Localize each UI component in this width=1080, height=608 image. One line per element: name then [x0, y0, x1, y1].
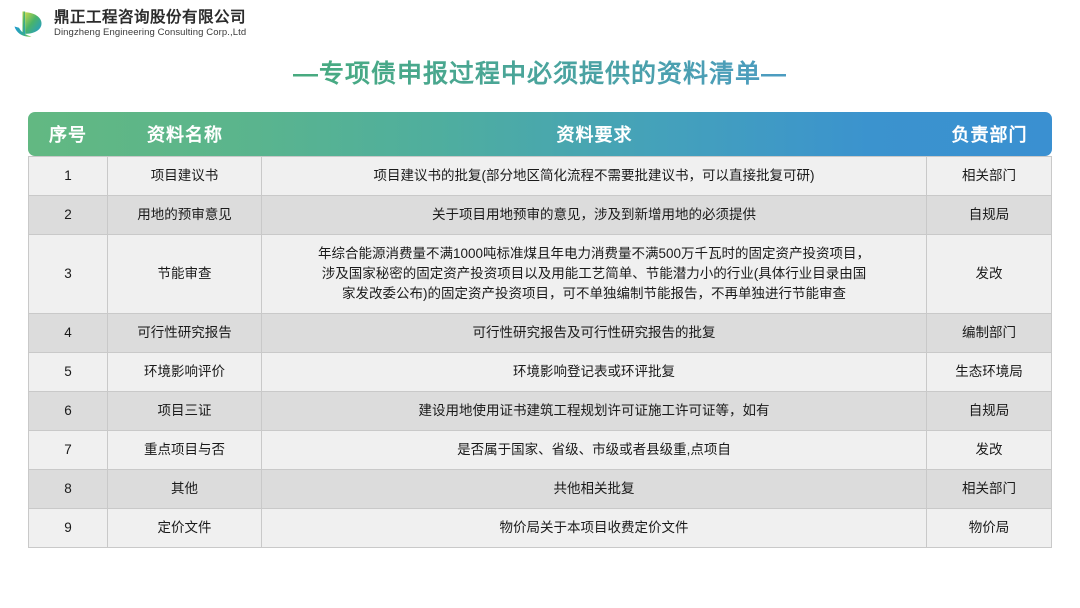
dingzheng-d-logo-icon: [12, 7, 46, 41]
cell-no: 8: [28, 470, 108, 509]
cell-no: 9: [28, 509, 108, 548]
column-header-dept: 负责部门: [927, 112, 1052, 156]
table-row: 7重点项目与否是否属于国家、省级、市级或者县级重,点项自发改: [28, 431, 1052, 470]
cell-requirement: 环境影响登记表或环评批复: [262, 353, 927, 392]
requirement-line: 物价局关于本项目收费定价文件: [270, 518, 918, 538]
cell-dept: 发改: [927, 431, 1052, 470]
cell-dept: 自规局: [927, 392, 1052, 431]
company-name-en: Dingzheng Engineering Consulting Corp.,L…: [54, 27, 246, 39]
requirement-line: 关于项目用地预审的意见，涉及到新增用地的必须提供: [270, 205, 918, 225]
cell-name: 节能审查: [108, 235, 262, 314]
cell-requirement: 共他相关批复: [262, 470, 927, 509]
table-row: 5环境影响评价环境影响登记表或环评批复生态环境局: [28, 353, 1052, 392]
cell-requirement: 关于项目用地预审的意见，涉及到新增用地的必须提供: [262, 196, 927, 235]
cell-name: 重点项目与否: [108, 431, 262, 470]
table-row: 6项目三证建设用地使用证书建筑工程规划许可证施工许可证等，如有自规局: [28, 392, 1052, 431]
table-row: 8其他共他相关批复相关部门: [28, 470, 1052, 509]
cell-name: 环境影响评价: [108, 353, 262, 392]
brand-text-block: 鼎正工程咨询股份有限公司 Dingzheng Engineering Consu…: [54, 9, 246, 39]
brand-header: 鼎正工程咨询股份有限公司 Dingzheng Engineering Consu…: [12, 7, 246, 41]
column-header-no: 序号: [28, 112, 108, 156]
table-head: 序号 资料名称 资料要求 负责部门: [28, 112, 1052, 156]
requirement-line: 是否属于国家、省级、市级或者县级重,点项自: [270, 440, 918, 460]
requirement-line: 环境影响登记表或环评批复: [270, 362, 918, 382]
cell-requirement: 项目建议书的批复(部分地区简化流程不需要批建议书，可以直接批复可研): [262, 156, 927, 196]
requirement-line: 共他相关批复: [270, 479, 918, 499]
cell-no: 5: [28, 353, 108, 392]
cell-no: 4: [28, 314, 108, 353]
cell-dept: 相关部门: [927, 156, 1052, 196]
cell-no: 7: [28, 431, 108, 470]
cell-name: 其他: [108, 470, 262, 509]
cell-requirement: 建设用地使用证书建筑工程规划许可证施工许可证等，如有: [262, 392, 927, 431]
column-header-requirement: 资料要求: [262, 112, 927, 156]
cell-dept: 自规局: [927, 196, 1052, 235]
cell-dept: 相关部门: [927, 470, 1052, 509]
cell-no: 2: [28, 196, 108, 235]
cell-name: 项目三证: [108, 392, 262, 431]
cell-requirement: 是否属于国家、省级、市级或者县级重,点项自: [262, 431, 927, 470]
cell-requirement: 可行性研究报告及可行性研究报告的批复: [262, 314, 927, 353]
documents-table-wrap: 序号 资料名称 资料要求 负责部门 1项目建议书项目建议书的批复(部分地区简化流…: [28, 112, 1052, 548]
cell-requirement: 物价局关于本项目收费定价文件: [262, 509, 927, 548]
requirement-line: 年综合能源消费量不满1000吨标准煤且年电力消费量不满500万千瓦时的固定资产投…: [270, 244, 918, 264]
table-body: 1项目建议书项目建议书的批复(部分地区简化流程不需要批建议书，可以直接批复可研)…: [28, 156, 1052, 548]
page-title: —专项债申报过程中必须提供的资料清单—: [0, 54, 1080, 90]
cell-name: 项目建议书: [108, 156, 262, 196]
cell-no: 1: [28, 156, 108, 196]
table-header-row: 序号 资料名称 资料要求 负责部门: [28, 112, 1052, 156]
cell-name: 用地的预审意见: [108, 196, 262, 235]
table-row: 4可行性研究报告可行性研究报告及可行性研究报告的批复编制部门: [28, 314, 1052, 353]
requirement-line: 项目建议书的批复(部分地区简化流程不需要批建议书，可以直接批复可研): [270, 166, 918, 186]
table-row: 9定价文件物价局关于本项目收费定价文件物价局: [28, 509, 1052, 548]
requirement-line: 建设用地使用证书建筑工程规划许可证施工许可证等，如有: [270, 401, 918, 421]
cell-dept: 发改: [927, 235, 1052, 314]
cell-dept: 生态环境局: [927, 353, 1052, 392]
cell-no: 6: [28, 392, 108, 431]
cell-name: 可行性研究报告: [108, 314, 262, 353]
cell-name: 定价文件: [108, 509, 262, 548]
requirement-line: 可行性研究报告及可行性研究报告的批复: [270, 323, 918, 343]
table-row: 3节能审查年综合能源消费量不满1000吨标准煤且年电力消费量不满500万千瓦时的…: [28, 235, 1052, 314]
company-name-cn: 鼎正工程咨询股份有限公司: [54, 9, 246, 27]
column-header-name: 资料名称: [108, 112, 262, 156]
table-row: 2用地的预审意见关于项目用地预审的意见，涉及到新增用地的必须提供自规局: [28, 196, 1052, 235]
slide-page: 鼎正工程咨询股份有限公司 Dingzheng Engineering Consu…: [0, 0, 1080, 608]
documents-table: 序号 资料名称 资料要求 负责部门 1项目建议书项目建议书的批复(部分地区简化流…: [28, 112, 1052, 548]
cell-no: 3: [28, 235, 108, 314]
requirement-line: 家发改委公布)的固定资产投资项目，可不单独编制节能报告，不再单独进行节能审查: [270, 284, 918, 304]
cell-dept: 物价局: [927, 509, 1052, 548]
cell-requirement: 年综合能源消费量不满1000吨标准煤且年电力消费量不满500万千瓦时的固定资产投…: [262, 235, 927, 314]
requirement-line: 涉及国家秘密的固定资产投资项目以及用能工艺简单、节能潜力小的行业(具体行业目录由…: [270, 264, 918, 284]
cell-dept: 编制部门: [927, 314, 1052, 353]
table-row: 1项目建议书项目建议书的批复(部分地区简化流程不需要批建议书，可以直接批复可研)…: [28, 156, 1052, 196]
